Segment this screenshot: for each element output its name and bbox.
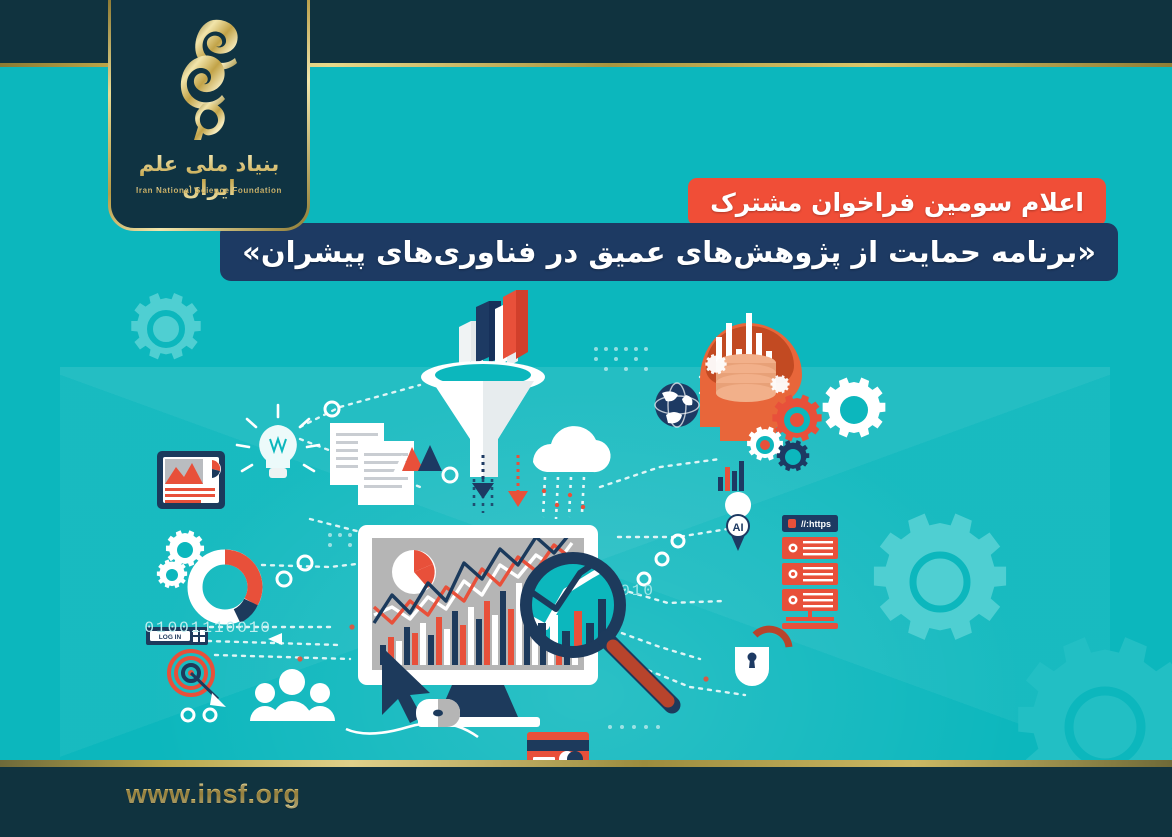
background-gear-topleft (131, 293, 200, 359)
background-gear-small (1018, 637, 1172, 760)
background-gear-large (874, 514, 1006, 640)
people-group-icon (250, 669, 335, 721)
headline-title-text: «برنامه حمایت از پژوهش‌های عمیق در فناور… (242, 235, 1096, 269)
donut-chart-icon (195, 557, 255, 617)
lightbulb-icon (237, 405, 319, 478)
poster-canvas: AI https:// (0, 0, 1172, 837)
cloud-data-icon (533, 426, 611, 519)
server-rack-icon: https:// (782, 515, 838, 629)
funnel-icon (421, 290, 545, 513)
svg-text:https://: https:// (801, 519, 831, 529)
insf-calligraphy-mark (167, 16, 251, 142)
padlock-icon (735, 629, 789, 686)
logo-name-en: Iran National Science Foundation (111, 186, 307, 195)
headline-kicker-banner: اعلام سومین فراخوان مشترک (688, 178, 1106, 226)
funnel-bars (459, 290, 528, 367)
binary-text-left: 01001110010 (144, 619, 272, 637)
target-dart-icon (169, 651, 226, 707)
logo-plaque: بنیاد ملی علم ایران Iran National Scienc… (108, 0, 310, 231)
website-url[interactable]: www.insf.org (126, 779, 301, 810)
tablet-chart-icon (157, 451, 225, 509)
bar-chart-mini-icon (718, 461, 744, 491)
ai-pin-icon: AI (725, 492, 751, 551)
footer-gold-divider (0, 760, 1172, 767)
svg-text:AI: AI (733, 522, 744, 534)
headline-title-banner: «برنامه حمایت از پژوهش‌های عمیق در فناور… (220, 223, 1118, 281)
credit-card-icon (527, 732, 589, 760)
headline-kicker-text: اعلام سومین فراخوان مشترک (710, 188, 1084, 217)
database-stack (716, 354, 776, 402)
globe-icon (655, 383, 699, 427)
